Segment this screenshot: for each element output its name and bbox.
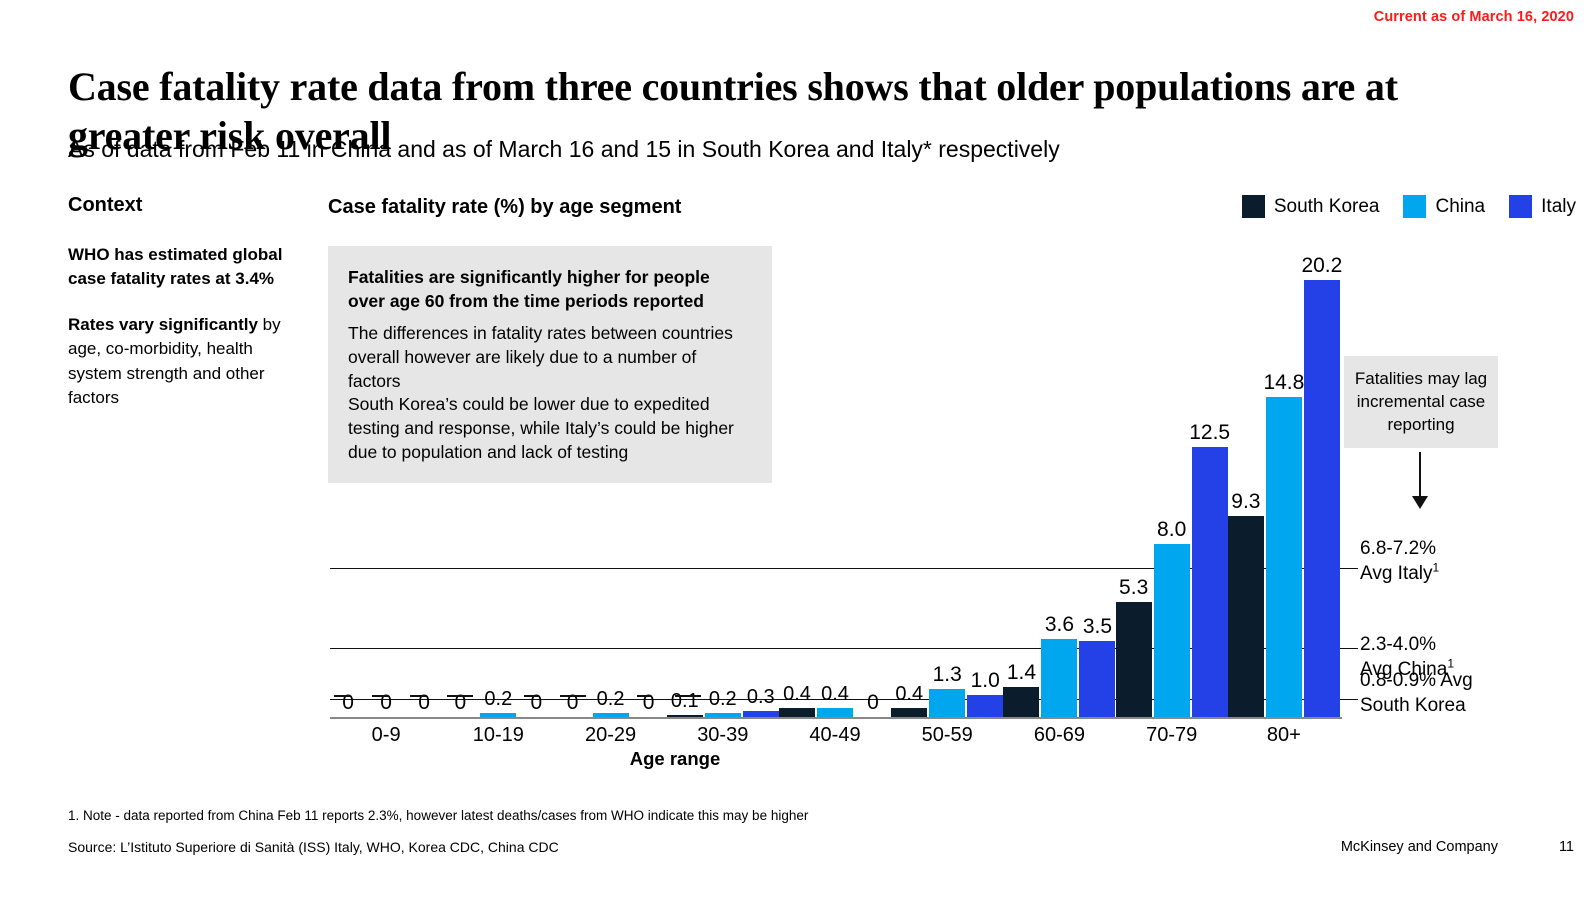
x-tick-10-19: 10-19: [438, 724, 558, 747]
context-who-bold: WHO has estimated global case fatality r…: [68, 245, 282, 288]
avg-note-value: 0.8-0.9% Avg: [1360, 670, 1473, 691]
bar-china[interactable]: 8.0: [1154, 544, 1190, 717]
zero-dash-3: [447, 695, 473, 697]
x-tick-70-79: 70-79: [1112, 724, 1232, 747]
bar-value-label: 1.3: [933, 664, 962, 685]
context-paragraph-who: WHO has estimated global case fatality r…: [68, 243, 308, 291]
bar-group: 0.40.40: [779, 708, 891, 717]
callout-paragraph-1: The differences in fatality rates betwee…: [348, 322, 750, 393]
bar-italy[interactable]: 20.2: [1304, 280, 1340, 717]
bar-group: 00.20: [442, 713, 554, 717]
bar-south-korea[interactable]: 9.3: [1228, 516, 1264, 717]
bar-value-label: 0.2: [597, 689, 625, 709]
context-column: Context WHO has estimated global case fa…: [68, 194, 308, 432]
bar-group: 00.20: [555, 713, 667, 717]
avg-note-value: 6.8-7.2%: [1360, 538, 1436, 559]
lag-arrow-icon: [1412, 496, 1428, 509]
zero-dash-6: [637, 695, 651, 697]
bar-value-label: 0.1: [671, 691, 699, 711]
bar-value-label: 9.3: [1231, 491, 1260, 512]
bar-italy[interactable]: 3.5: [1079, 641, 1115, 717]
bar-rect: [1304, 280, 1340, 717]
bar-rect: [1116, 602, 1152, 717]
bar-italy[interactable]: 1.0: [967, 695, 1003, 717]
context-paragraph-rates: Rates vary significantly by age, co-morb…: [68, 313, 308, 410]
zero-dash-0: [334, 695, 350, 697]
legend-swatch-south-korea: [1242, 195, 1265, 218]
bar-south-korea[interactable]: 1.4: [1003, 687, 1039, 717]
x-tick-60-69: 60-69: [999, 724, 1119, 747]
context-heading: Context: [68, 194, 308, 217]
bar-value-label: 0.3: [747, 687, 775, 707]
bar-china[interactable]: 1.3: [929, 689, 965, 717]
bar-value-label: 12.5: [1189, 422, 1230, 443]
bar-group: 0.10.20.3: [667, 711, 779, 717]
bar-rect: [480, 713, 516, 717]
bar-group: 9.314.820.2: [1228, 280, 1340, 717]
bar-china[interactable]: 0.2: [480, 713, 516, 717]
footnote: 1. Note - data reported from China Feb 1…: [68, 808, 808, 823]
x-tick-0-9: 0-9: [326, 724, 446, 747]
legend-label-china: China: [1435, 196, 1485, 218]
bar-value-label: 0.4: [895, 684, 923, 704]
bar-rect: [1266, 397, 1302, 717]
bar-south-korea[interactable]: 0.1: [667, 715, 703, 717]
bar-rect: [593, 713, 629, 717]
bar-group: 1.43.63.5: [1003, 639, 1115, 717]
legend-label-italy: Italy: [1541, 196, 1576, 218]
current-as-of-date: Current as of March 16, 2020: [1374, 9, 1574, 25]
page-subtitle: As of data from Feb 11 in China and as o…: [68, 135, 1498, 165]
x-tick-50-59: 50-59: [887, 724, 1007, 747]
lag-arrow-line: [1419, 452, 1421, 502]
bar-value-label: 0.2: [709, 689, 737, 709]
context-rates-bold: Rates vary significantly: [68, 315, 258, 334]
bar-value-label: 0.2: [484, 689, 512, 709]
bar-rect: [705, 713, 741, 717]
avg-note-1: 6.8-7.2%Avg Italy1: [1360, 536, 1439, 586]
avg-note-sup: 1: [1433, 561, 1440, 575]
x-tick-30-39: 30-39: [663, 724, 783, 747]
bar-china[interactable]: 0.2: [593, 713, 629, 717]
bar-china[interactable]: 0.4: [817, 708, 853, 717]
bar-rect: [1003, 687, 1039, 717]
bar-south-korea[interactable]: 0.4: [779, 708, 815, 717]
bar-italy[interactable]: 0.3: [743, 711, 779, 717]
bar-rect: [817, 708, 853, 717]
bar-group: 0.41.31.0: [891, 689, 1003, 717]
page-number: 11: [1559, 839, 1574, 855]
bar-rect: [779, 708, 815, 717]
avg-note-value: 2.3-4.0%: [1360, 634, 1436, 655]
bar-value-label: 3.5: [1083, 616, 1112, 637]
bar-value-label: 5.3: [1119, 577, 1148, 598]
legend-swatch-italy: [1509, 195, 1532, 218]
bar-value-label: 0: [867, 692, 879, 713]
source-line: Source: L’Istituto Superiore di Sanità (…: [68, 839, 559, 855]
bar-rect: [667, 715, 703, 717]
bar-south-korea[interactable]: 0.4: [891, 708, 927, 717]
bar-rect: [891, 708, 927, 717]
zero-dash-1: [372, 695, 388, 697]
x-axis-baseline: [330, 717, 1342, 719]
avg-note-label: South Korea: [1360, 695, 1466, 716]
bar-rect: [1154, 544, 1190, 717]
bar-value-label: 3.6: [1045, 614, 1074, 635]
lag-note-box: Fatalities may lag incremental case repo…: [1344, 356, 1498, 448]
bar-value-label: 8.0: [1157, 519, 1186, 540]
chart-legend: South Korea China Italy: [1242, 195, 1576, 218]
x-axis-title: Age range: [330, 748, 1020, 770]
callout-box: Fatalities are significantly higher for …: [328, 246, 772, 483]
callout-heading: Fatalities are significantly higher for …: [348, 266, 750, 314]
brand-label: McKinsey and Company: [1341, 839, 1498, 855]
bar-value-label: 20.2: [1301, 255, 1342, 276]
bar-value-label: 1.4: [1007, 662, 1036, 683]
x-tick-40-49: 40-49: [775, 724, 895, 747]
bar-italy[interactable]: 12.5: [1192, 447, 1228, 717]
bar-rect: [967, 695, 1003, 717]
legend-item-south-korea[interactable]: South Korea: [1242, 195, 1380, 218]
zero-dash-5: [560, 695, 586, 697]
bar-rect: [1041, 639, 1077, 717]
bar-value-label: 0.4: [821, 684, 849, 704]
legend-item-china[interactable]: China: [1403, 195, 1485, 218]
bar-rect: [1079, 641, 1115, 717]
bar-value-label: 0.4: [783, 684, 811, 704]
bar-rect: [743, 711, 779, 717]
callout-paragraph-2: South Korea’s could be lower due to expe…: [348, 393, 750, 464]
chart-title: Case fatality rate (%) by age segment: [328, 196, 681, 219]
avg-note-3: 0.8-0.9% AvgSouth Korea: [1360, 668, 1473, 718]
bar-china[interactable]: 14.8: [1266, 397, 1302, 717]
bar-group: 5.38.012.5: [1116, 447, 1228, 717]
zero-dash-4: [524, 695, 538, 697]
bar-china[interactable]: 3.6: [1041, 639, 1077, 717]
legend-item-italy[interactable]: Italy: [1509, 195, 1576, 218]
bar-rect: [1192, 447, 1228, 717]
bar-value-label: 14.8: [1263, 372, 1304, 393]
legend-label-south-korea: South Korea: [1274, 196, 1380, 218]
x-tick-80+: 80+: [1224, 724, 1344, 747]
bar-rect: [1228, 516, 1264, 717]
bar-china[interactable]: 0.2: [705, 713, 741, 717]
bar-south-korea[interactable]: 5.3: [1116, 602, 1152, 717]
x-tick-20-29: 20-29: [551, 724, 671, 747]
zero-dash-2: [410, 695, 426, 697]
zero-dash-7: [675, 695, 701, 697]
bar-value-label: 1.0: [971, 670, 1000, 691]
legend-swatch-china: [1403, 195, 1426, 218]
avg-note-label: Avg Italy1: [1360, 563, 1439, 584]
bar-rect: [929, 689, 965, 717]
